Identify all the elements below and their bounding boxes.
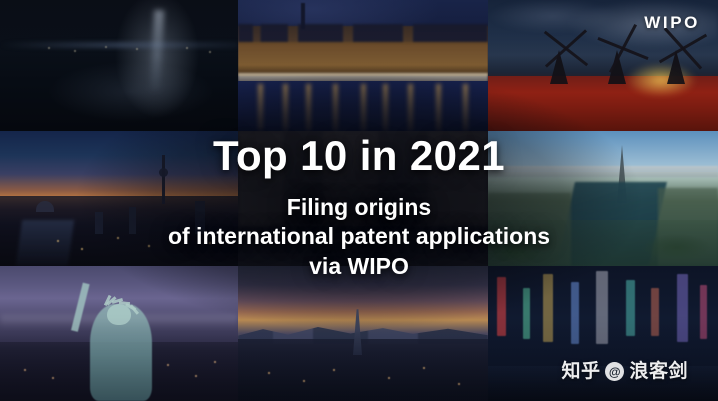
subtitle-line-3: via WIPO xyxy=(0,252,718,282)
subtitle-line-1: Filing origins xyxy=(0,193,718,223)
page-title: Top 10 in 2021 xyxy=(0,134,718,179)
watermark-platform: 知乎 xyxy=(561,362,600,381)
seoul-scene xyxy=(238,266,488,401)
city-silhouette xyxy=(238,339,488,401)
tile-stockholm-waterfront-night xyxy=(238,0,488,131)
wipo-logo: WIPO xyxy=(644,14,700,31)
watermark-username: 浪客剑 xyxy=(629,362,688,381)
sun-glow xyxy=(626,63,696,97)
page-subtitle: Filing origins of international patent a… xyxy=(0,193,718,283)
video-thumbnail: WIPO Top 10 in 2021 Filing origins of in… xyxy=(0,0,718,401)
hero-text-block: Top 10 in 2021 Filing origins of interna… xyxy=(0,134,718,282)
at-icon: @ xyxy=(605,362,624,381)
stockholm-scene xyxy=(238,0,488,131)
tile-seoul-skyline-lotte-tower xyxy=(238,266,488,401)
tile-geneva-lake-fountain-night xyxy=(0,0,238,131)
statue-head xyxy=(107,304,131,326)
roofline xyxy=(238,24,488,42)
water-jet xyxy=(150,10,164,92)
geneva-scene xyxy=(0,0,238,131)
subtitle-line-2: of international patent applications xyxy=(0,222,718,252)
horizon-line xyxy=(0,42,238,48)
church-spire xyxy=(301,3,305,29)
zhihu-watermark: 知乎 @ 浪客剑 xyxy=(561,362,688,381)
tile-new-york-statue-of-liberty xyxy=(0,266,238,401)
liberty-scene xyxy=(0,266,238,401)
